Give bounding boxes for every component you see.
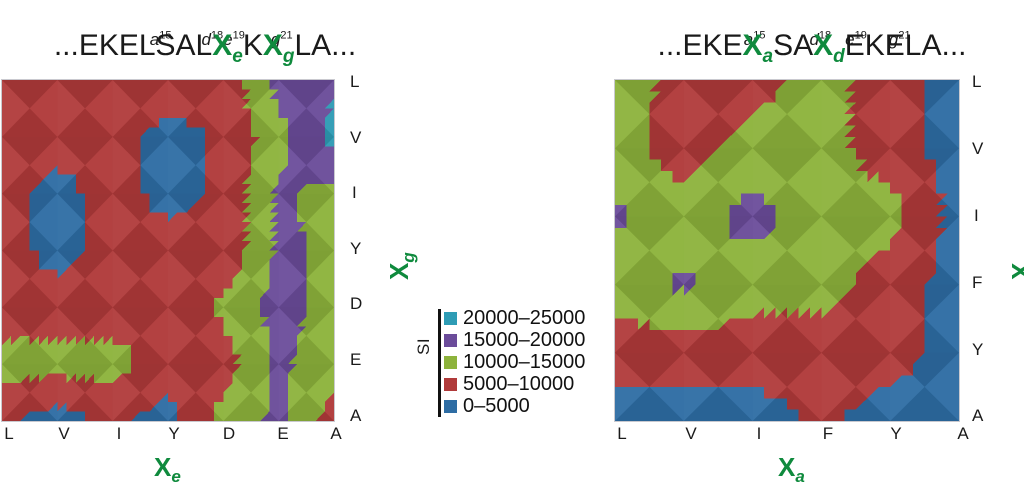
heatmap-right	[614, 79, 960, 422]
legend-item-label: 0–5000	[463, 396, 530, 416]
sequence-suffix-left: LA...	[294, 29, 356, 62]
sequence-variable-xg: Xg	[263, 29, 295, 62]
x-tick-left-0: L	[0, 424, 24, 444]
legend-swatch-icon	[444, 312, 457, 325]
x-tick-right-3: F	[813, 424, 843, 444]
sequence-variable-xa: Xa	[743, 29, 774, 62]
y-tick-right-5: A	[972, 406, 996, 426]
x-axis-title-right: Xa	[778, 452, 805, 487]
sequence-prefix-left: ...EKELSAL	[54, 29, 212, 62]
legend-swatch-icon	[444, 356, 457, 369]
y-tick-right-4: Y	[972, 340, 996, 360]
sequence-variable-xd: Xd	[813, 29, 845, 62]
heatmap-left	[1, 79, 335, 422]
y-tick-left-3: Y	[350, 239, 374, 259]
y-axis-title-right: Xd	[1006, 252, 1024, 280]
legend-item[interactable]: 5000–10000	[444, 373, 574, 395]
legend-item-label: 15000–20000	[463, 330, 585, 350]
panel-left: a15d18e19g21 ...EKELSALXeKXgLA... L V I …	[0, 0, 410, 498]
x-tick-right-2: I	[744, 424, 774, 444]
sequence-variable-xe: Xe	[212, 29, 243, 62]
y-tick-left-2: I	[352, 183, 376, 203]
y-axis-title-left: Xg	[384, 252, 419, 280]
x-tick-left-3: Y	[159, 424, 189, 444]
legend-item-label: 10000–15000	[463, 352, 585, 372]
legend-item[interactable]: 20000–25000	[444, 307, 585, 329]
legend-item[interactable]: 10000–15000	[444, 351, 585, 373]
y-tick-right-1: V	[972, 139, 996, 159]
y-tick-left-0: L	[350, 72, 374, 92]
y-tick-left-1: V	[350, 128, 374, 148]
sequence-suffix-right: EKELA...	[845, 29, 967, 62]
x-tick-left-4: D	[214, 424, 244, 444]
legend-item[interactable]: 15000–20000	[444, 329, 585, 351]
x-axis-title-left: Xe	[154, 452, 181, 487]
legend-swatch-icon	[444, 334, 457, 347]
legend-item[interactable]: 0–5000	[444, 395, 530, 417]
y-tick-left-6: A	[350, 406, 374, 426]
y-tick-left-4: D	[350, 294, 374, 314]
legend: SI 20000–25000 15000–20000 10000–15000 5…	[414, 307, 594, 419]
legend-item-label: 5000–10000	[463, 374, 574, 394]
x-tick-right-0: L	[607, 424, 637, 444]
legend-axis-label: SI	[414, 338, 434, 355]
x-tick-left-1: V	[49, 424, 79, 444]
legend-swatch-icon	[444, 378, 457, 391]
x-tick-left-2: I	[104, 424, 134, 444]
y-tick-right-3: F	[972, 273, 996, 293]
sequence-mid-left: K	[243, 29, 263, 62]
y-tick-left-5: E	[350, 350, 374, 370]
legend-item-label: 20000–25000	[463, 308, 585, 328]
legend-swatch-icon	[444, 400, 457, 413]
y-tick-right-2: I	[974, 206, 998, 226]
sequence-mid-right: SA	[773, 29, 813, 62]
x-tick-left-5: E	[268, 424, 298, 444]
heatmap-left-surface	[2, 80, 334, 421]
legend-divider	[438, 309, 441, 417]
panel-right: a15d18e19g21 ...EKEXaSAXdEKELA... L V I …	[600, 0, 1024, 498]
x-tick-right-1: V	[676, 424, 706, 444]
x-tick-left-6: A	[321, 424, 351, 444]
heatmap-right-surface	[615, 80, 959, 421]
y-tick-right-0: L	[972, 72, 996, 92]
sequence-prefix-right: ...EKE	[657, 29, 742, 62]
x-tick-right-4: Y	[881, 424, 911, 444]
x-tick-right-5: A	[948, 424, 978, 444]
